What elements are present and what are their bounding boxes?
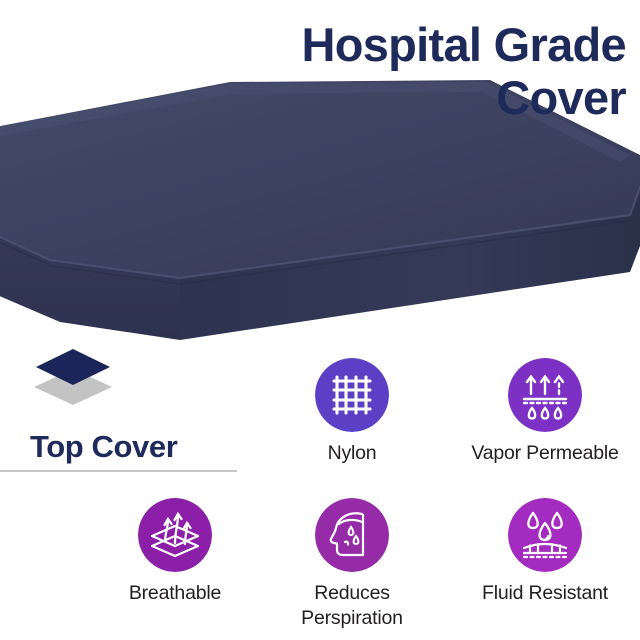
feature-vapor-permeable: Vapor Permeable (450, 358, 640, 466)
infographic-page: Hospital Grade Cover Top Cover (0, 0, 640, 640)
top-cover-block: Top Cover (30, 345, 245, 464)
feature-reduces-perspiration: Reduces Perspiration (272, 498, 432, 631)
feature-label-breathable: Breathable (95, 581, 255, 606)
feature-label-reduces-perspiration: Reduces Perspiration (272, 581, 432, 631)
layers-icon (30, 345, 116, 411)
top-cover-label: Top Cover (30, 430, 245, 464)
breathable-layers-icon (138, 498, 212, 572)
feature-label-fluid-resistant: Fluid Resistant (450, 581, 640, 606)
section-divider (0, 470, 237, 472)
title-line-1: Hospital Grade (248, 18, 626, 71)
feature-fluid-resistant: Fluid Resistant (450, 498, 640, 606)
feature-nylon: Nylon (272, 358, 432, 466)
droplet-repel-icon (508, 498, 582, 572)
feature-breathable: Breathable (95, 498, 255, 606)
feature-label-vapor-permeable: Vapor Permeable (450, 441, 640, 466)
page-title: Hospital Grade Cover (248, 18, 626, 124)
mesh-grid-icon (315, 358, 389, 432)
feature-label-nylon: Nylon (272, 441, 432, 466)
title-line-2: Cover (248, 71, 626, 124)
vapor-arrows-icon (508, 358, 582, 432)
head-sweat-icon (315, 498, 389, 572)
